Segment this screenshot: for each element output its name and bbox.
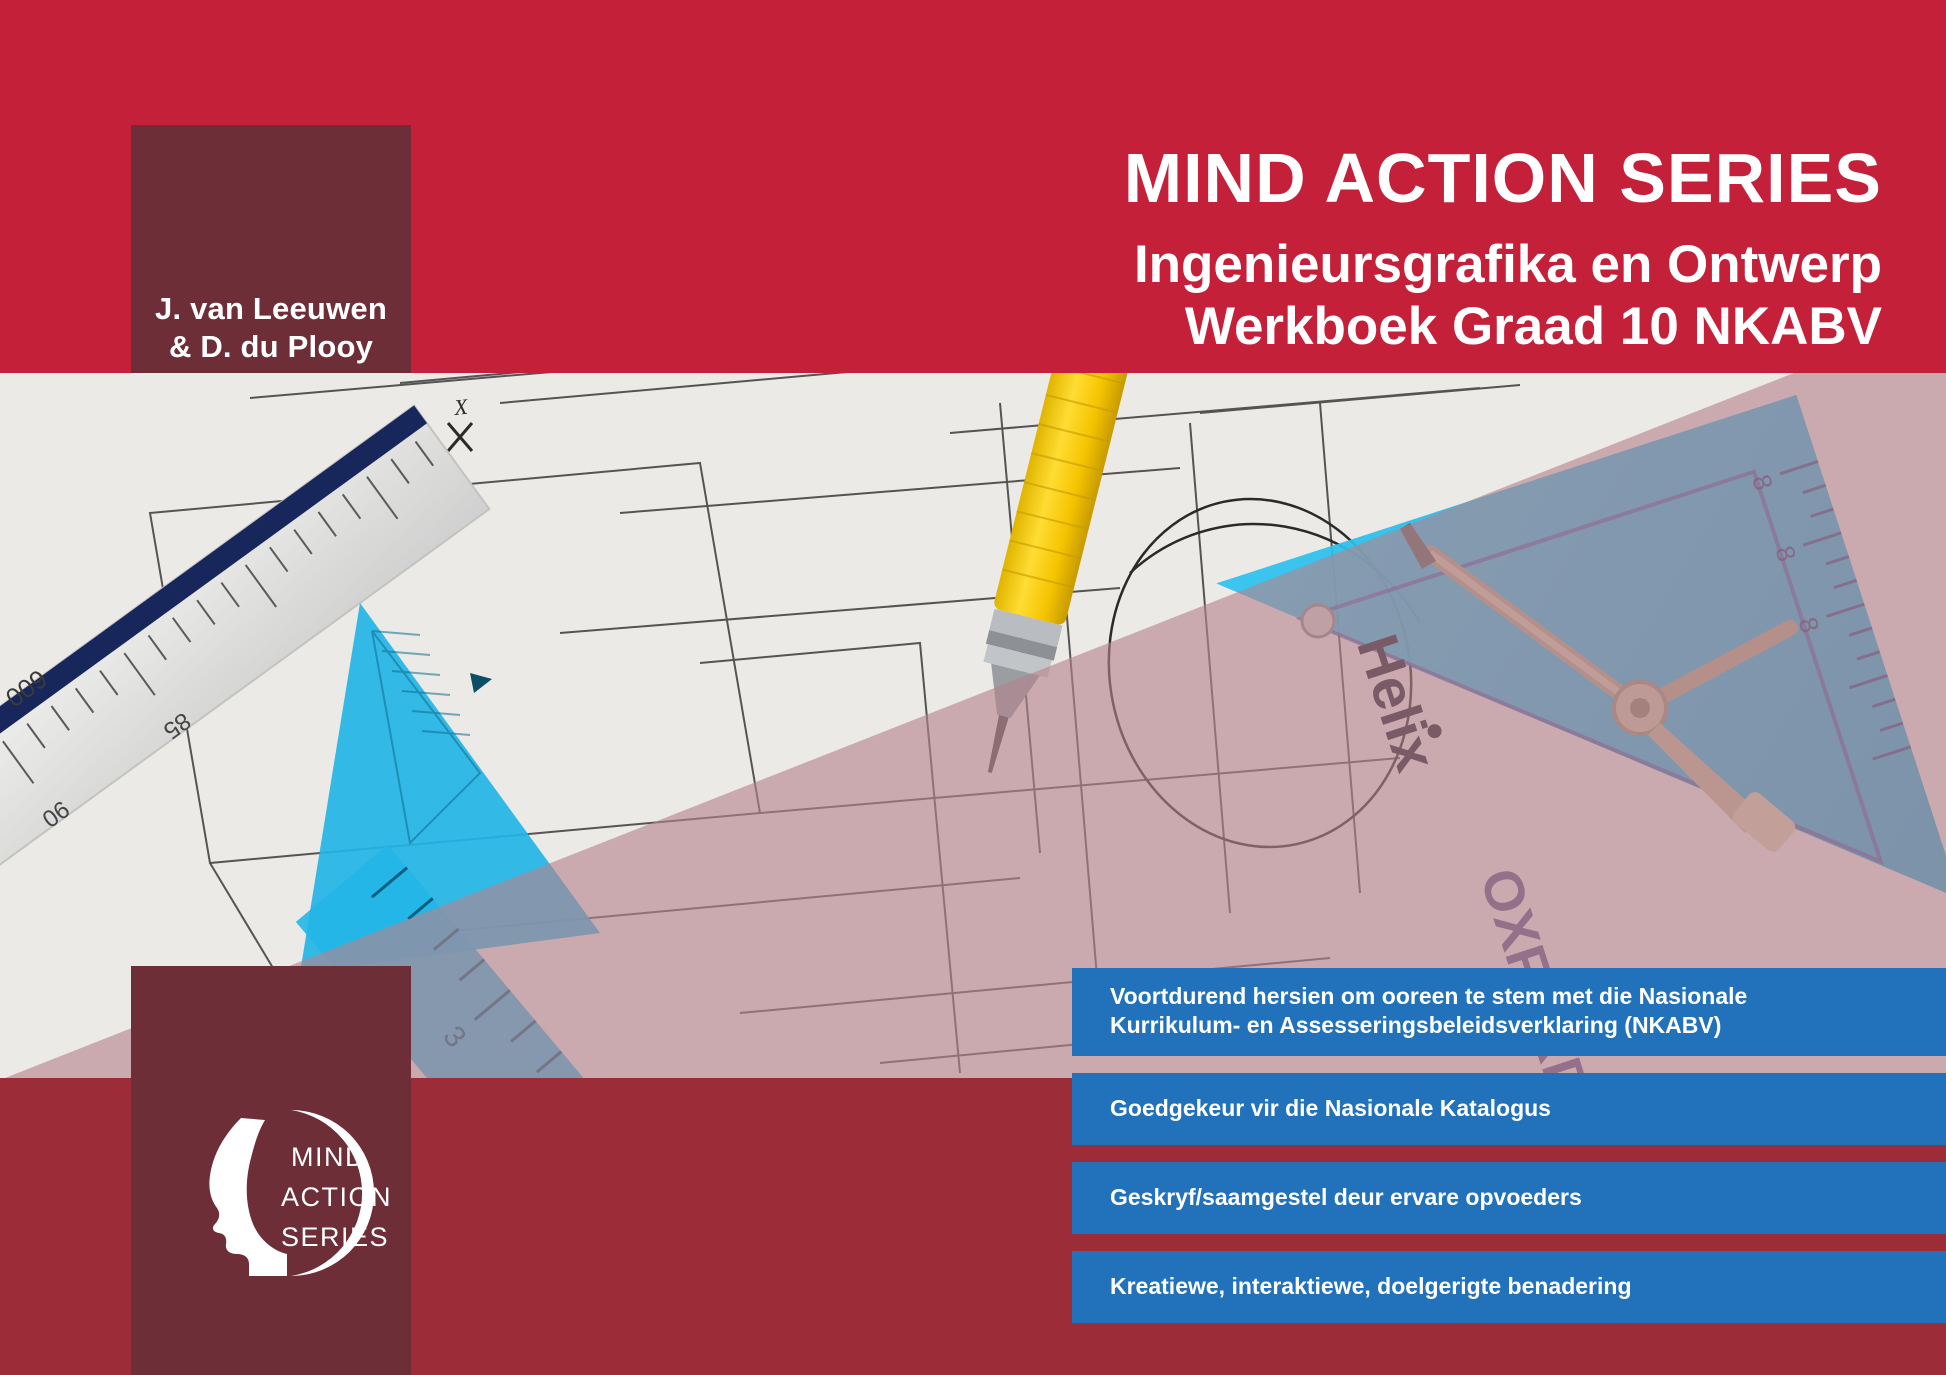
logo-line-3: SERIES	[281, 1222, 389, 1252]
title-block: MIND ACTION SERIES Ingenieursgrafika en …	[1124, 140, 1882, 358]
feature-4-line-1: Kreatiewe, interaktiewe, doelgerigte ben…	[1110, 1273, 1632, 1299]
feature-item-3: Geskryf/saamgestel deur ervare opvoeders	[1072, 1162, 1946, 1234]
feature-1-line-1: Voortdurend hersien om ooreen te stem me…	[1110, 983, 1747, 1009]
subtitle-line-2: Werkboek Graad 10 NKABV	[1124, 296, 1882, 358]
feature-3-line-1: Geskryf/saamgestel deur ervare opvoeders	[1110, 1184, 1582, 1210]
book-cover: X	[0, 0, 1946, 1375]
series-title: MIND ACTION SERIES	[1124, 140, 1882, 216]
subtitle-line-1: Ingenieursgrafika en Ontwerp	[1124, 234, 1882, 296]
mind-action-series-logo: MIND ACTION SERIES	[141, 1088, 401, 1298]
feature-1-line-2: Kurrikulum- en Assesseringsbeleidsverkla…	[1110, 1011, 1946, 1040]
logo-line-1: MIND	[291, 1142, 366, 1172]
feature-item-2: Goedgekeur vir die Nasionale Katalogus	[1072, 1073, 1946, 1145]
feature-list: Voortdurend hersien om ooreen te stem me…	[1072, 968, 1946, 1323]
feature-item-4: Kreatiewe, interaktiewe, doelgerigte ben…	[1072, 1251, 1946, 1323]
feature-2-line-1: Goedgekeur vir die Nasionale Katalogus	[1110, 1095, 1551, 1121]
feature-item-1: Voortdurend hersien om ooreen te stem me…	[1072, 968, 1946, 1056]
crescent-moon-face-icon: MIND ACTION SERIES	[141, 1088, 401, 1298]
author-line-1: J. van Leeuwen	[131, 290, 411, 328]
author-names: J. van Leeuwen & D. du Plooy	[131, 290, 411, 366]
author-line-2: & D. du Plooy	[131, 328, 411, 366]
logo-line-2: ACTION	[281, 1182, 392, 1212]
